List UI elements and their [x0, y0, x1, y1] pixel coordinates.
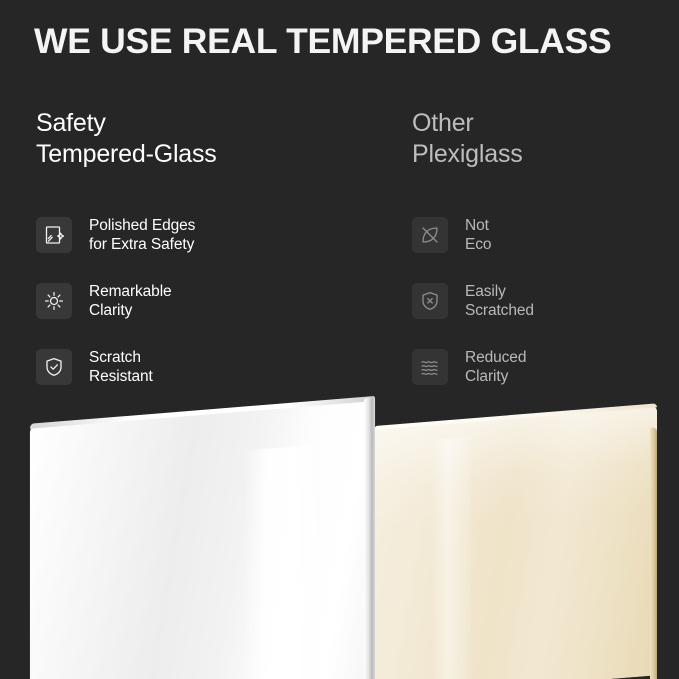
column-title-left: Safety Tempered-Glass [36, 108, 366, 170]
feature-easily-scratched: Easily Scratched [412, 278, 677, 324]
feature-not-eco-label: Not Eco [465, 216, 491, 255]
feature-remarkable-clarity-line1: Remarkable [89, 283, 172, 300]
feature-not-eco-line1: Not [465, 217, 489, 234]
plexiglass-panel-right-edge [650, 427, 657, 679]
sun-clarity-icon [36, 283, 72, 319]
feature-remarkable-clarity: Remarkable Clarity [36, 278, 366, 324]
feature-remarkable-clarity-label: Remarkable Clarity [89, 282, 172, 321]
wavy-distortion-icon [412, 349, 448, 385]
feature-polished-edges: Polished Edges for Extra Safety [36, 212, 366, 258]
tempered-glass-panel [30, 398, 375, 679]
column-other-plexiglass: Other Plexiglass Not Eco [412, 108, 677, 170]
feature-reduced-clarity: Reduced Clarity [412, 344, 677, 390]
product-comparison-image [0, 392, 679, 679]
feature-reduced-clarity-line2: Clarity [465, 367, 526, 387]
feature-polished-edges-line2: for Extra Safety [89, 235, 195, 255]
feature-remarkable-clarity-line2: Clarity [89, 301, 172, 321]
column-safety-tempered-glass: Safety Tempered-Glass Polished Edges for… [36, 108, 366, 170]
feature-polished-edges-line1: Polished Edges [89, 217, 195, 234]
feature-list-left: Polished Edges for Extra Safety Remarkab… [36, 212, 366, 410]
feature-easily-scratched-label: Easily Scratched [465, 282, 534, 321]
shield-x-icon [412, 283, 448, 319]
feature-scratch-resistant-label: Scratch Resistant [89, 348, 153, 387]
tempered-glass-panel-right-edge [364, 397, 375, 679]
feature-polished-edges-label: Polished Edges for Extra Safety [89, 216, 195, 255]
polished-edges-icon [36, 217, 72, 253]
column-title-left-line2: Tempered-Glass [36, 139, 366, 170]
feature-scratch-resistant-line2: Resistant [89, 367, 153, 387]
column-title-left-line1: Safety [36, 109, 106, 137]
feature-easily-scratched-line2: Scratched [465, 301, 534, 321]
page-title: WE USE REAL TEMPERED GLASS [34, 20, 654, 62]
feature-scratch-resistant: Scratch Resistant [36, 344, 366, 390]
column-title-right: Other Plexiglass [412, 108, 677, 170]
shield-check-icon [36, 349, 72, 385]
comparison-infographic: WE USE REAL TEMPERED GLASS Safety Temper… [0, 0, 679, 679]
feature-easily-scratched-line1: Easily [465, 283, 506, 300]
feature-reduced-clarity-line1: Reduced [465, 349, 526, 366]
feature-not-eco: Not Eco [412, 212, 677, 258]
feature-reduced-clarity-label: Reduced Clarity [465, 348, 526, 387]
column-title-right-line1: Other [412, 109, 474, 137]
column-title-right-line2: Plexiglass [412, 139, 677, 170]
feature-scratch-resistant-line1: Scratch [89, 349, 141, 366]
leaf-crossed-out-icon [412, 217, 448, 253]
plexiglass-panel [375, 405, 657, 679]
feature-not-eco-line2: Eco [465, 235, 491, 255]
feature-list-right: Not Eco Easily Scratched [412, 212, 677, 410]
